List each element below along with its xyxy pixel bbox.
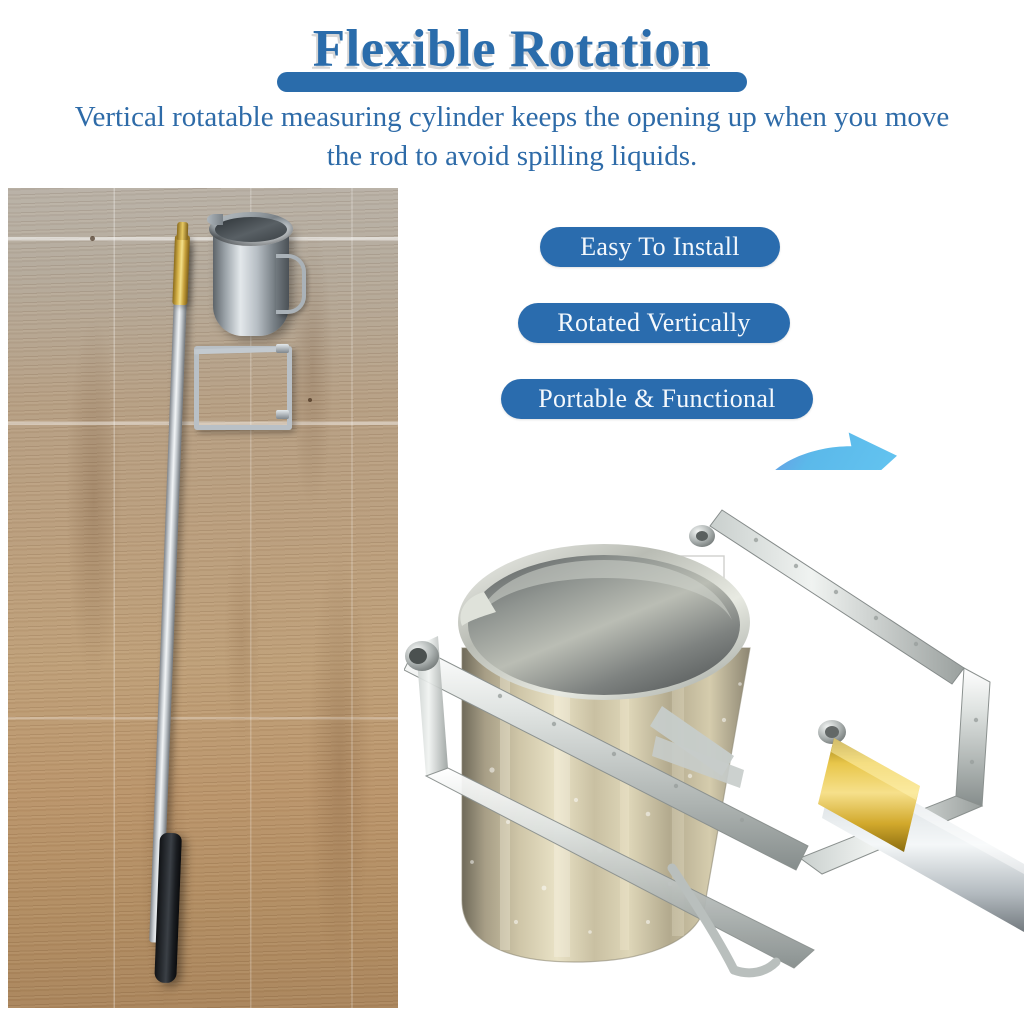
- header: Flexible Rotation: [0, 20, 1024, 78]
- feature-badge-easy-to-install[interactable]: Easy To Install: [540, 227, 780, 267]
- pivot-bolt-left: [405, 641, 439, 671]
- bracket-bolt: [276, 344, 289, 353]
- product-photo-main: [404, 470, 1024, 1024]
- page-title: Flexible Rotation: [313, 20, 712, 78]
- feature-badge-label: Portable & Functional: [538, 384, 775, 414]
- feature-badge-label: Rotated Vertically: [557, 308, 750, 338]
- wood-knot: [90, 236, 95, 241]
- page-subtitle: Vertical rotatable measuring cylinder ke…: [62, 98, 962, 176]
- measuring-cylinder-handle: [276, 254, 306, 314]
- promo-graphic: Flexible Rotation Vertical rotatable mea…: [0, 0, 1024, 1024]
- measuring-cylinder-spout: [207, 214, 223, 225]
- wood-knot: [308, 398, 312, 402]
- feature-badge-rotated-vertically[interactable]: Rotated Vertically: [518, 303, 790, 343]
- pole-brass-collar: [172, 235, 190, 306]
- measuring-cylinder-interior: [215, 217, 287, 242]
- feature-badge-portable-functional[interactable]: Portable & Functional: [501, 379, 813, 419]
- pole-tip: [177, 222, 189, 240]
- product-photo-left: Removable: [8, 188, 398, 1008]
- feature-badge-label: Easy To Install: [580, 232, 740, 262]
- bracket-bolt: [276, 410, 289, 419]
- wood-plank-joints: [8, 188, 398, 1008]
- pole-clamp-bolt: [818, 720, 846, 744]
- pivot-bolt-top: [689, 525, 715, 547]
